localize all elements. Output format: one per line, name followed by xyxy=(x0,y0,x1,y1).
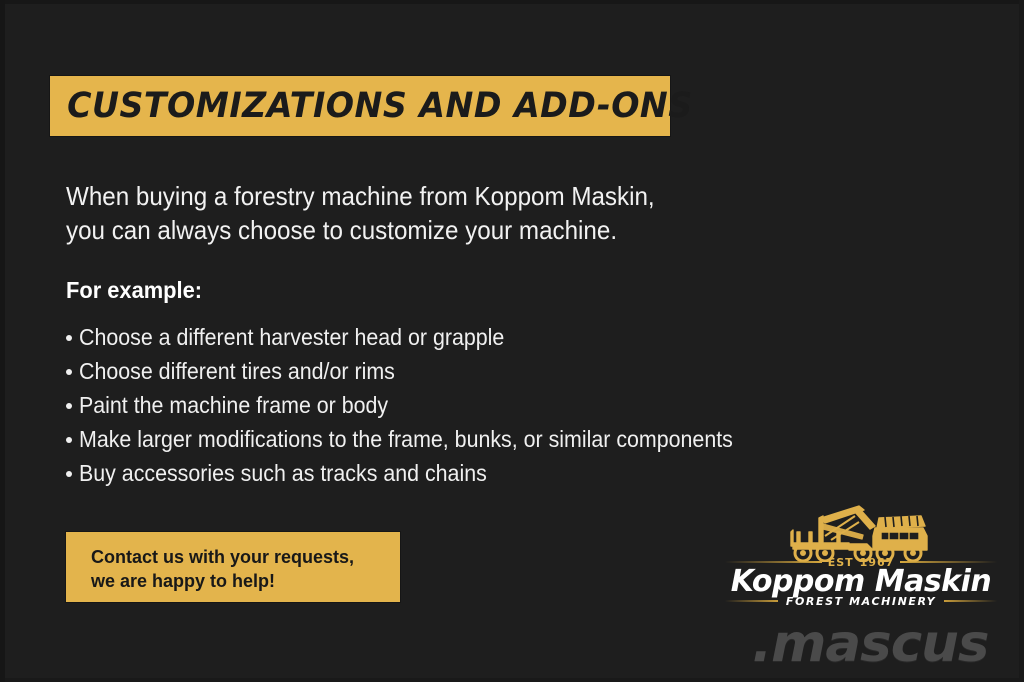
bullet-dot-icon xyxy=(66,437,72,443)
logo-tagline-row: FOREST MACHINERY xyxy=(725,594,997,608)
logo-tagline-rule-left xyxy=(725,600,778,602)
bullet-dot-icon xyxy=(66,403,72,409)
forwarder-machine-icon xyxy=(763,502,958,562)
list-item: Make larger modifications to the frame, … xyxy=(66,424,846,458)
list-item-label: Buy accessories such as tracks and chain… xyxy=(79,458,487,488)
list-item-label: Choose different tires and/or rims xyxy=(79,356,395,386)
bullet-dot-icon xyxy=(66,369,72,375)
intro-paragraph: When buying a forestry machine from Kopp… xyxy=(66,179,766,247)
bullet-dot-icon xyxy=(66,335,72,341)
koppom-maskin-logo: EST 1967 Koppom Maskin FOREST MACHINERY xyxy=(725,502,997,610)
customization-options-list: Choose a different harvester head or gra… xyxy=(66,322,846,492)
contact-callout-box[interactable]: Contact us with your requests, we are ha… xyxy=(66,532,400,602)
list-item: Paint the machine frame or body xyxy=(66,390,846,424)
contact-callout-text: Contact us with your requests, we are ha… xyxy=(91,545,354,593)
title-banner: CUSTOMIZATIONS AND ADD-ONS xyxy=(50,76,670,136)
intro-line-2: you can always choose to customize your … xyxy=(66,213,717,247)
list-item-label: Choose a different harvester head or gra… xyxy=(79,322,504,352)
list-item: Choose different tires and/or rims xyxy=(66,356,846,390)
advertisement-slide: CUSTOMIZATIONS AND ADD-ONS When buying a… xyxy=(0,0,1024,682)
list-item: Choose a different harvester head or gra… xyxy=(66,322,846,356)
logo-rule-left xyxy=(725,561,822,563)
logo-tagline: FOREST MACHINERY xyxy=(786,595,936,608)
page-title: CUSTOMIZATIONS AND ADD-ONS xyxy=(50,86,693,126)
contact-line-1: Contact us with your requests, xyxy=(91,545,354,569)
logo-rule-right xyxy=(900,561,997,563)
contact-line-2: we are happy to help! xyxy=(91,569,354,593)
list-item-label: Paint the machine frame or body xyxy=(79,390,388,420)
list-item: Buy accessories such as tracks and chain… xyxy=(66,458,846,492)
mascus-watermark: .mascus xyxy=(752,614,988,674)
for-example-label: For example: xyxy=(66,277,202,304)
logo-tagline-rule-right xyxy=(944,600,997,602)
list-item-label: Make larger modifications to the frame, … xyxy=(79,424,733,454)
intro-line-1: When buying a forestry machine from Kopp… xyxy=(66,179,717,213)
bullet-dot-icon xyxy=(66,471,72,477)
